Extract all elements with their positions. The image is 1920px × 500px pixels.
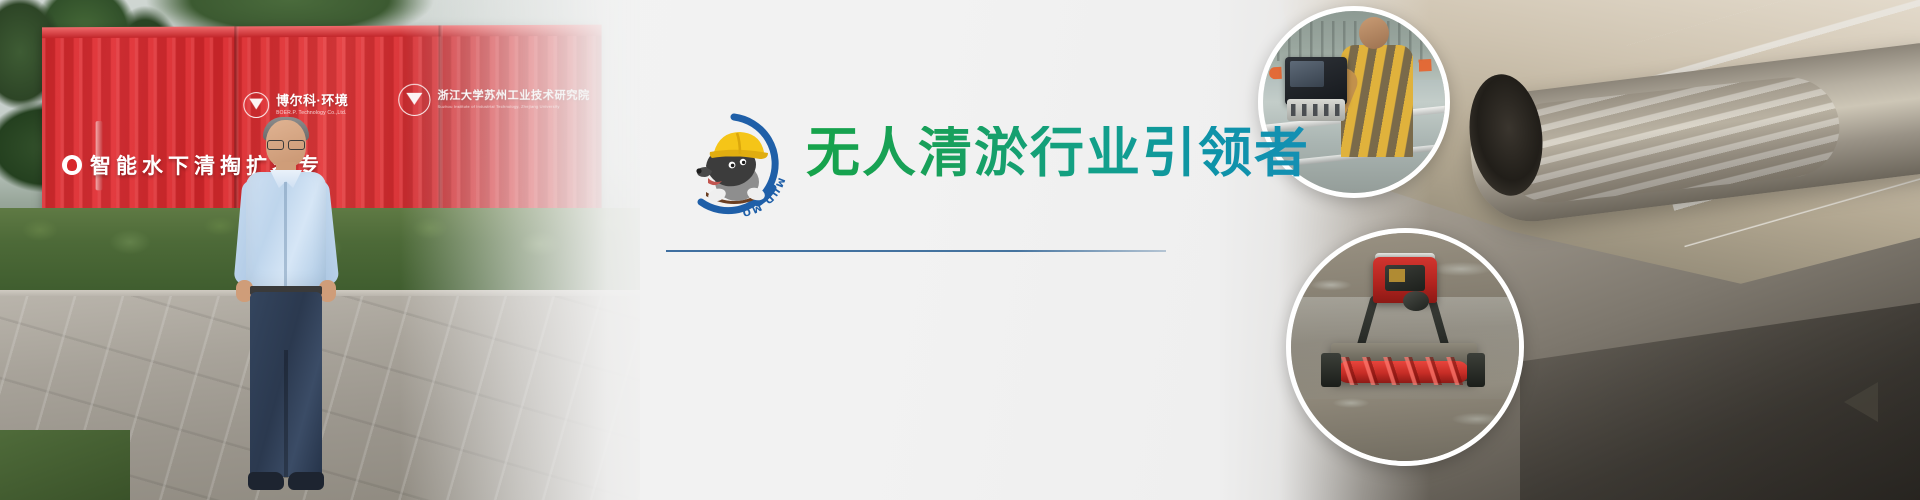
arrow-shape-icon	[1844, 382, 1878, 422]
auger-flighting	[1337, 357, 1469, 385]
person-trouser-seam	[284, 350, 288, 478]
container-brand-cn: 博尔科·环境	[276, 94, 348, 108]
grass-patch	[0, 430, 130, 500]
zju-logo-icon	[398, 84, 430, 116]
headline-divider	[666, 250, 1166, 252]
person-right-shoe	[288, 472, 324, 490]
container-brand-partner: 浙江大学苏州工业技术研究院 Suzhou Institute of Indust…	[398, 83, 590, 116]
person-left-shoe	[248, 472, 284, 490]
container-brand-en: BOER.P. Technology Co.,Ltd.	[276, 110, 348, 116]
mud-mole-logo: MUD MOLE	[680, 110, 788, 218]
container-brand-primary: 博尔科·环境 BOER.P. Technology Co.,Ltd.	[243, 92, 348, 118]
console-screen	[1290, 61, 1324, 87]
auger-end-right	[1467, 353, 1485, 387]
operator-head	[1359, 17, 1389, 49]
engineer-person	[230, 120, 340, 500]
partner-brand-en: Suzhou Institute of Industrial Technolog…	[438, 104, 590, 109]
container-door-seam-2	[439, 25, 443, 226]
robot-gold-component	[1389, 269, 1405, 282]
headline-text: 无人清淤行业引领者	[806, 126, 1310, 180]
person-glasses	[267, 140, 305, 148]
partner-brand-cn: 浙江大学苏州工业技术研究院	[438, 90, 590, 102]
dredging-robot-circle-photo	[1286, 228, 1524, 466]
operator-torso	[1341, 45, 1413, 157]
person-shirt-placket	[284, 182, 287, 290]
boerp-logo-icon	[243, 92, 269, 118]
hero-banner: 博尔科·环境 BOER.P. Technology Co.,Ltd. 浙江大学苏…	[0, 0, 1920, 500]
robot-motor	[1403, 291, 1429, 311]
slogan-bullet-icon	[62, 155, 82, 175]
left-photo: 博尔科·环境 BOER.P. Technology Co.,Ltd. 浙江大学苏…	[0, 0, 640, 500]
center-content: MUD MOLE 无人清淤行业引领者	[660, 0, 1260, 500]
console-buttons	[1291, 104, 1341, 116]
auger-end-left	[1321, 353, 1341, 387]
